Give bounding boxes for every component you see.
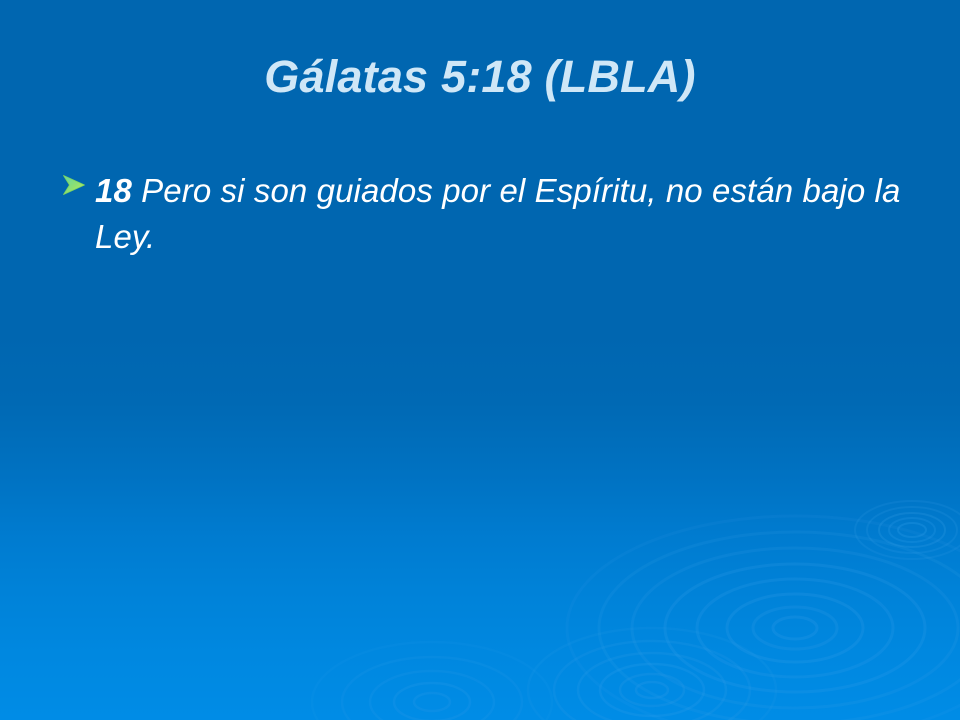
- list-item[interactable]: 18 Pero si son guiados por el Espíritu, …: [48, 168, 916, 259]
- green-arrowhead-bullet-icon: [48, 168, 95, 196]
- page-title: Gálatas 5:18 (LBLA): [48, 52, 912, 102]
- bullet-text: 18 Pero si son guiados por el Espíritu, …: [95, 168, 916, 259]
- water-ripple-decoration: [0, 0, 960, 720]
- slide-body-placeholder[interactable]: 18 Pero si son guiados por el Espíritu, …: [48, 168, 916, 259]
- verse-number: 18: [95, 172, 132, 209]
- ripple-medium-lower-left: [528, 628, 776, 720]
- presentation-slide: Gálatas 5:18 (LBLA): [0, 0, 960, 720]
- ripple-large-center-right: [567, 516, 960, 720]
- slide-title-placeholder[interactable]: Gálatas 5:18 (LBLA): [48, 52, 912, 102]
- ripple-small-bottom-left: [312, 642, 552, 720]
- verse-body-text: Pero si son guiados por el Espíritu, no …: [95, 172, 900, 255]
- ripple-small-top-right: [855, 501, 960, 559]
